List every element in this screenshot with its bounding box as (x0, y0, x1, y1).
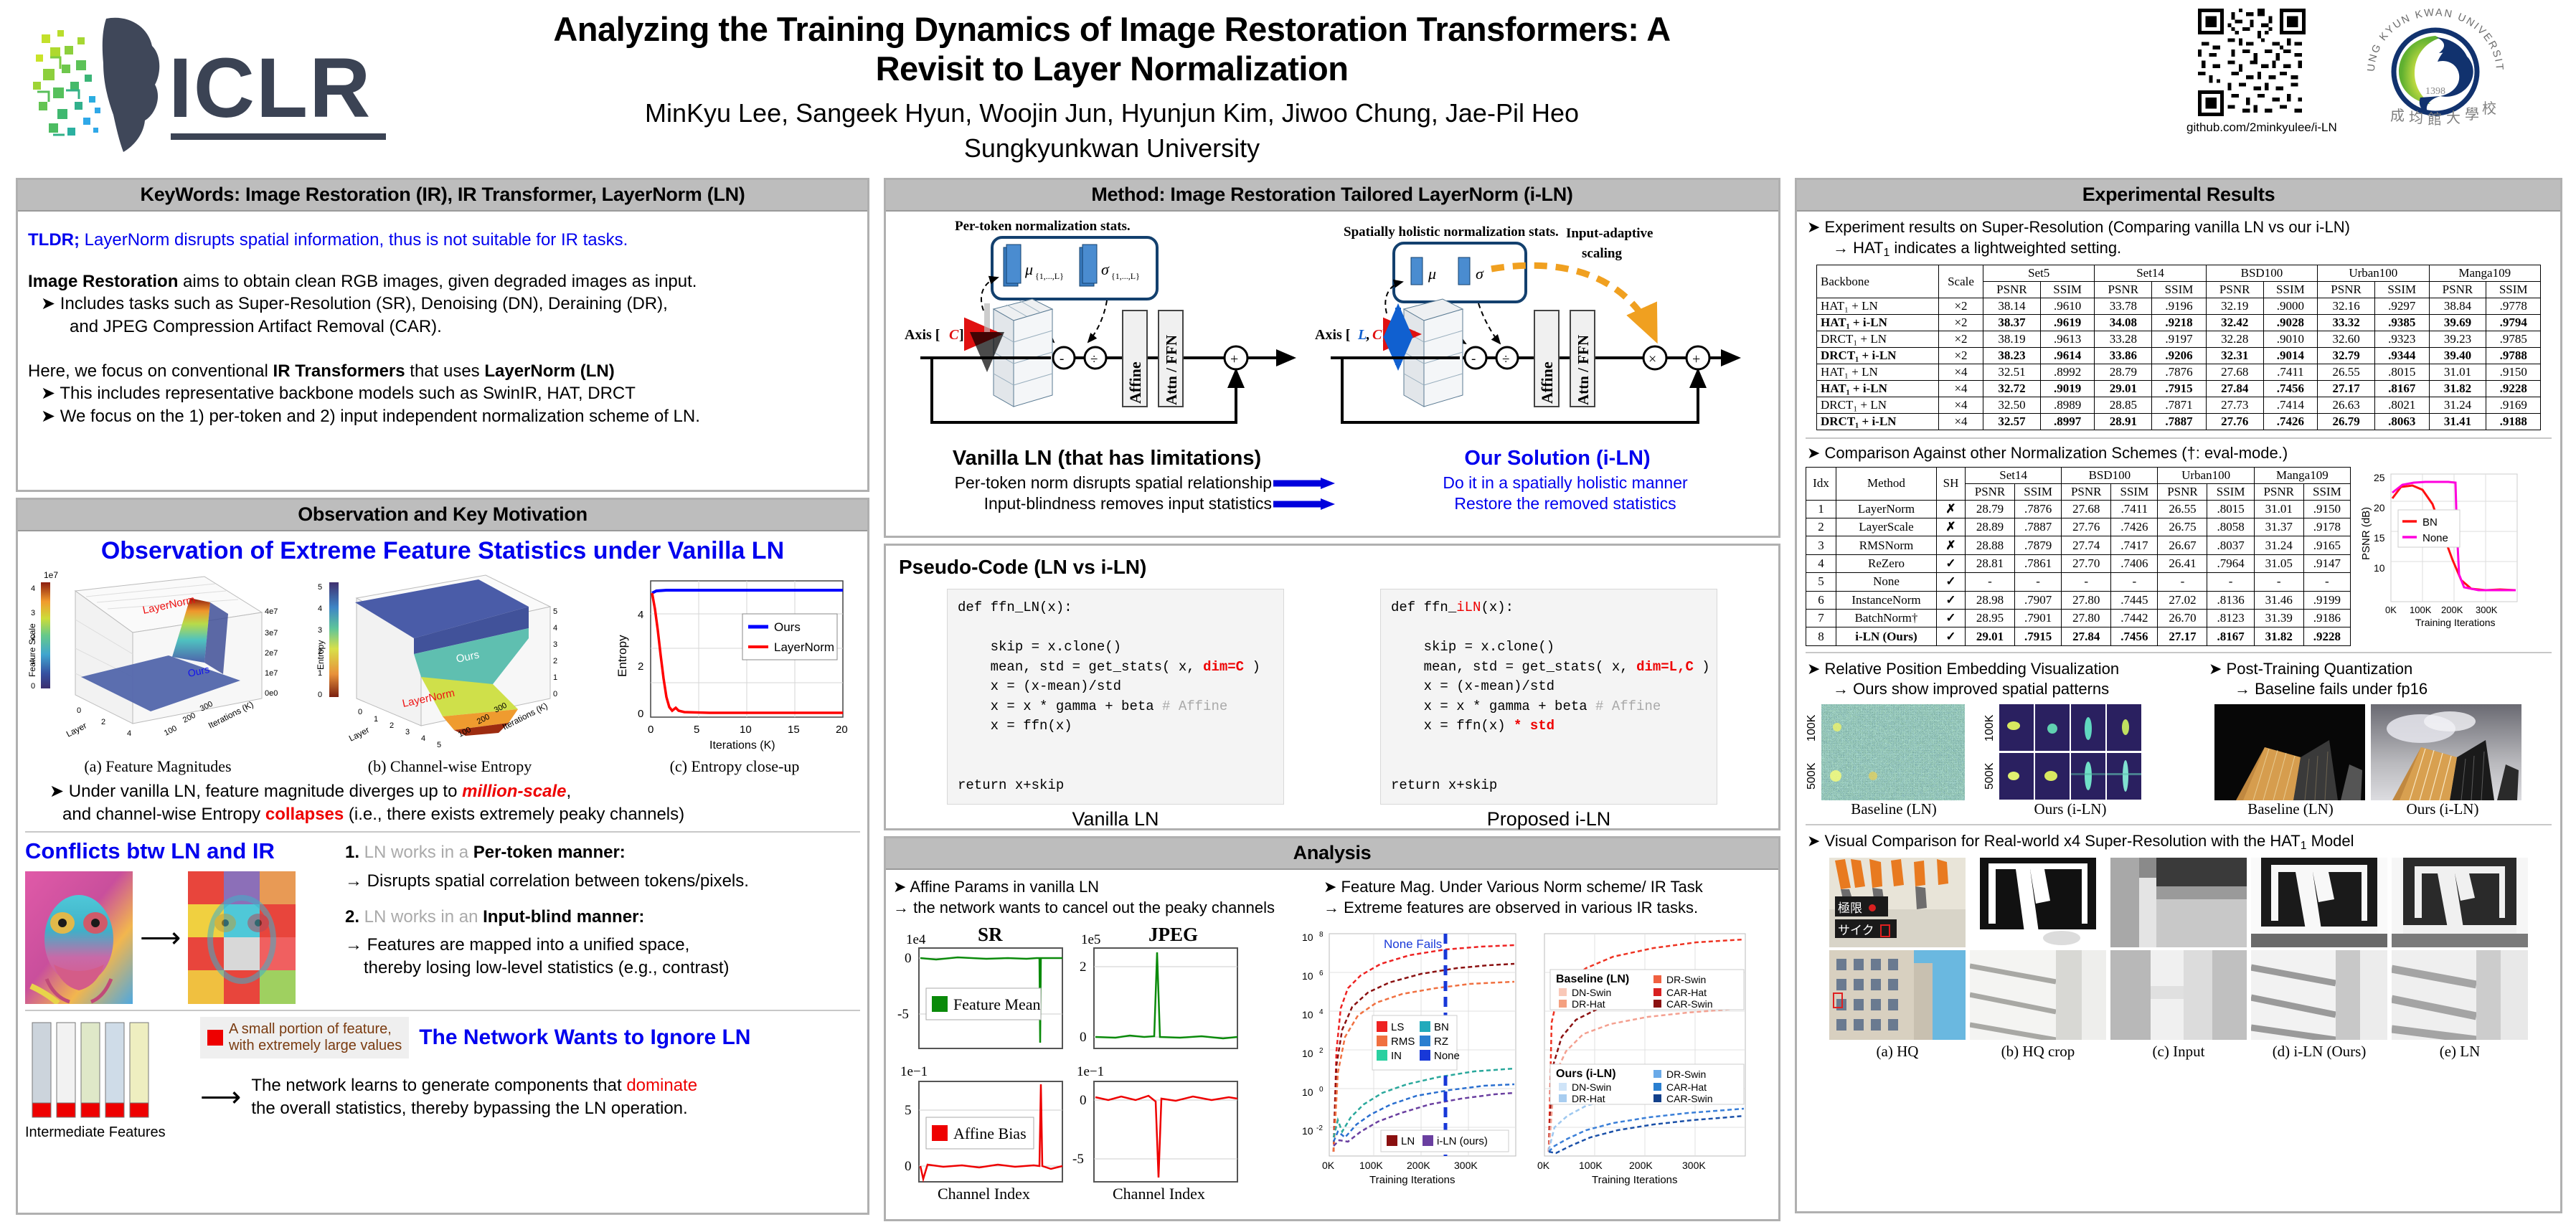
svg-text:σ: σ (1476, 265, 1484, 283)
svg-text:200K: 200K (1407, 1160, 1430, 1171)
svg-text:i-LN (ours): i-LN (ours) (1437, 1135, 1488, 1147)
table-row: HAT₁ + i-LN×432.72.901929.01.791527.84.7… (1817, 381, 2541, 397)
svg-text:-: - (1060, 351, 1064, 366)
middle-column: Method: Image Restoration Tailored Layer… (884, 178, 1780, 1227)
table-row: 5None✓-------- (1806, 573, 2351, 591)
th-scale: Scale (1939, 265, 1983, 298)
conflicts-section: Conflicts btw LN and IR (25, 838, 860, 1004)
svg-text:-5: -5 (897, 1007, 909, 1022)
method-header: Method: Image Restoration Tailored Layer… (886, 180, 1778, 212)
visual-b1-sub: 1 (2301, 840, 2307, 852)
rpe-ours-tiles (1999, 704, 2143, 800)
svg-text:RMS: RMS (1391, 1036, 1415, 1048)
figure-entropy-closeup: Ours LayerNorm 420 05 101520 Entropy Ite… (609, 569, 860, 776)
table-row: DRCT₁ + LN×432.50.898928.85.787127.73.74… (1817, 397, 2541, 414)
svg-text:DN-Swin: DN-Swin (1572, 1081, 1611, 1093)
conflict-2-num: 2. (345, 907, 359, 927)
svg-text:-2: -2 (1316, 1124, 1323, 1132)
legend-line2: with extremely large values (229, 1038, 402, 1054)
svg-text:÷: ÷ (1502, 352, 1509, 367)
svg-text:4: 4 (318, 605, 322, 613)
method-row2-right: Restore the removed statistics (1358, 494, 1773, 513)
svg-text:2: 2 (390, 721, 394, 730)
svg-text:,: , (1366, 327, 1369, 343)
ignore-ln-title: The Network Wants to Ignore LN (419, 1025, 750, 1050)
code-right-dim: dim=L,C (1636, 659, 1694, 675)
code-right-def-red: iLN (1456, 600, 1481, 615)
svg-text:0: 0 (905, 951, 912, 966)
th-psnr: PSNR (2429, 282, 2486, 298)
svg-text:RZ: RZ (1434, 1036, 1448, 1048)
intermediate-features-bars (25, 1017, 190, 1124)
xlabel-channel-index-1: Channel Index (938, 1185, 1030, 1202)
svg-text:{1,...,L}: {1,...,L} (1111, 271, 1140, 281)
svg-text:Feature Scale: Feature Scale (27, 623, 37, 677)
svg-text:4e7: 4e7 (265, 607, 278, 616)
note-line2-tail: (i.e., there exists extremely peaky chan… (344, 805, 684, 824)
analysis-right-b2: → Extreme features are observed in vario… (1324, 898, 1771, 919)
rpe-b2: → Ours show improved spatial patterns (1833, 679, 2207, 700)
th-ssim: SSIM (2263, 282, 2317, 298)
visual-col-hq: 極限サイク (1829, 858, 1966, 1061)
svg-text:學: 學 (2465, 106, 2479, 123)
svg-text:10: 10 (1302, 932, 1313, 943)
svg-text:CAR-Hat: CAR-Hat (1666, 987, 1707, 998)
svg-text:館: 館 (2428, 111, 2442, 128)
method-row2-arrow-icon (1272, 497, 1358, 511)
note-million-scale: million-scale (462, 782, 566, 801)
svg-text:5: 5 (318, 583, 322, 592)
svg-text:15: 15 (2374, 532, 2385, 544)
svg-text:20: 20 (836, 724, 848, 736)
xlabel-channel-index-2: Channel Index (1113, 1185, 1205, 1202)
svg-text:C: C (1372, 327, 1382, 343)
qr-code-icon[interactable] (2198, 9, 2306, 116)
table-row: DRCT₁ + i-LN×432.57.899728.91.788727.76.… (1817, 414, 2541, 430)
svg-text:0K: 0K (2385, 605, 2397, 615)
legend-swatch-red (207, 1030, 223, 1046)
visual-comparison-block: ➤ Visual Comparison for Real-world x4 Su… (1806, 831, 2552, 1061)
ignore-line1-pre: The network learns to generate component… (251, 1076, 626, 1095)
legend-group-ours: Ours (i-LN) (1556, 1068, 1616, 1080)
rpe-row-label-500k-2: 500K (1983, 754, 1996, 798)
observation-panel: Observation and Key Motivation Observati… (16, 498, 869, 1215)
visual-hq-manga: 極限サイク (1829, 858, 1966, 947)
university-logo: SUNG KYUN KWAN UNIVERSITY 1398 成均館 大學校 (2346, 6, 2525, 128)
method-caption-right: Our Solution (i-LN) (1342, 447, 1773, 470)
th-method: Method (1836, 467, 1937, 500)
svg-text:校: 校 (2482, 100, 2496, 117)
visual-hqcrop-building (1970, 950, 2106, 1040)
conflict-2-gray: LN works in an (359, 907, 483, 927)
tldr-text: LayerNorm disrupts spatial information, … (80, 230, 628, 250)
left-stats-label: Per-token normalization stats. (955, 219, 1131, 234)
poster-header: ICLR Analyzing the Training Dynamics of … (0, 0, 2576, 178)
svg-text:4: 4 (421, 734, 425, 743)
tldr-label: TLDR; (28, 230, 80, 250)
feature-magnitude-charts: 108 106 104 102 100 10-2 (1295, 922, 1768, 1202)
svg-text:LN: LN (1401, 1135, 1415, 1147)
svg-text:PSNR (dB): PSNR (dB) (2360, 507, 2372, 560)
svg-text:Affine: Affine (1538, 361, 1556, 404)
none-fails-annotation: None Fails (1384, 937, 1442, 951)
intermediate-features-label: Intermediate Features (25, 1124, 190, 1141)
th-ssim: SSIM (2152, 282, 2206, 298)
legend-line1: A small portion of feature, (229, 1021, 402, 1038)
svg-text:300K: 300K (1454, 1160, 1478, 1171)
code-i-ln: def ffn_iLN(x): skip = x.clone() mean, s… (1380, 589, 1717, 805)
rpe-caption-right: Ours (i-LN) (1982, 800, 2159, 818)
svg-text:3: 3 (31, 609, 35, 617)
chameleon-token-shuffled-image (188, 871, 296, 1004)
affiliation: Sungkyunkwan University (502, 133, 1722, 164)
svg-text:大: 大 (2446, 110, 2461, 126)
svg-text:μ: μ (1428, 265, 1436, 283)
code-right-def-b: (x): (1481, 600, 1514, 615)
results-table-norms: Idx Method SH Set14 BSD100 Urban100 Mang… (1806, 467, 2351, 646)
svg-text:Entropy: Entropy (615, 635, 629, 677)
results-panel: Experimental Results ➤ Experiment result… (1795, 178, 2562, 1213)
svg-text:CAR-Hat: CAR-Hat (1666, 1081, 1707, 1093)
visual-input-manga (2110, 858, 2247, 947)
th-ssim: SSIM (2375, 282, 2429, 298)
focus-mid: that uses (405, 361, 485, 381)
svg-text:CAR-Swin: CAR-Swin (1666, 998, 1713, 1010)
svg-text:0K: 0K (1322, 1160, 1335, 1171)
analysis-left-b2: → the network wants to cancel out the pe… (893, 898, 1324, 919)
method-panel: Method: Image Restoration Tailored Layer… (884, 178, 1780, 538)
code-left-dim: dim=C (1203, 659, 1244, 675)
svg-text:DR-Swin: DR-Swin (1666, 974, 1706, 985)
visual-col-hqcrop: (b) HQ crop (1970, 858, 2106, 1061)
analysis-left-b1: Affine Params in vanilla LN (910, 878, 1099, 896)
svg-text:200K: 200K (1629, 1160, 1653, 1171)
svg-text:]: ] (1382, 327, 1387, 343)
rpe-caption-left: Baseline (LN) (1806, 800, 1982, 818)
legend-bn: BN (2422, 516, 2438, 529)
svg-text:4: 4 (638, 609, 643, 621)
ptq-caption-right: Ours (i-LN) (2367, 800, 2519, 818)
ignore-arrow-icon: ⟶ (200, 1083, 241, 1112)
code-right-post-a: x = ffn(x) (1391, 718, 1514, 734)
table-row: 8i-LN (Ours)✓29.01.791527.84.745627.17.8… (1806, 627, 2351, 645)
svg-text:Layer: Layer (347, 725, 371, 744)
svg-text:10: 10 (1302, 1125, 1313, 1137)
note-line1-pre: Under vanilla LN, feature magnitude dive… (69, 782, 462, 801)
method-row1-arrow-icon (1272, 476, 1358, 491)
svg-text:Ours: Ours (774, 620, 801, 634)
results-b2-post: indicates a lightweighted setting. (1889, 239, 2121, 257)
visual-cap-a: (a) HQ (1829, 1043, 1966, 1061)
xlabel-training-iters-1: Training Iterations (1369, 1174, 1456, 1186)
svg-text:1398: 1398 (2425, 86, 2445, 97)
svg-text:1e4: 1e4 (906, 932, 926, 947)
th-psnr: PSNR (1983, 282, 2041, 298)
svg-text:2: 2 (553, 657, 557, 665)
svg-text:200K: 200K (2441, 605, 2463, 615)
svg-text:100: 100 (163, 724, 179, 738)
th-set14: Set14 (2095, 265, 2206, 282)
note-line2-pre: and channel-wise Entropy (62, 805, 265, 824)
th-ssim: SSIM (2486, 282, 2541, 298)
svg-text:1e7: 1e7 (265, 669, 278, 678)
conflicts-title: Conflicts btw LN and IR (25, 838, 334, 864)
code-left-post: x = ffn(x) return x+skip (958, 718, 1072, 793)
table-row: 1LayerNorm✗28.79.787627.68.741126.55.801… (1806, 500, 2351, 518)
visual-col-input: (c) Input (2110, 858, 2247, 1061)
svg-text:Layer: Layer (65, 721, 88, 739)
svg-text:2e7: 2e7 (265, 649, 278, 658)
svg-text:0: 0 (1080, 1093, 1087, 1108)
note-collapses: collapses (265, 805, 344, 824)
svg-text:BN: BN (1434, 1021, 1449, 1033)
iclr-underline (171, 133, 386, 140)
pseudocode-right-block: def ffn_iLN(x): skip = x.clone() mean, s… (1380, 589, 1717, 830)
conflict-1-bold: Per-token manner: (473, 843, 626, 862)
rpe-block: ➤ Relative Position Embedding Visualizat… (1806, 659, 2207, 818)
svg-text:-5: -5 (1072, 1152, 1084, 1167)
conflict-1-num: 1. (345, 843, 359, 862)
visual-iln-building (2251, 950, 2387, 1040)
svg-text:Iterations (K): Iterations (K) (709, 739, 775, 752)
svg-text:5: 5 (694, 724, 699, 736)
results-table-sr: Backbone Scale Set5 Set14 BSD100 Urban10… (1816, 265, 2541, 430)
svg-text:Training Iterations: Training Iterations (2415, 617, 2496, 628)
svg-text:成: 成 (2390, 108, 2405, 124)
code-caption-left: Vanilla LN (947, 808, 1284, 830)
svg-text:0: 0 (358, 708, 362, 716)
svg-text:10: 10 (2374, 562, 2385, 574)
observation-header: Observation and Key Motivation (18, 500, 867, 531)
svg-text:3: 3 (318, 626, 322, 635)
layernorm-label: LayerNorm (LN) (484, 361, 614, 381)
ptq-baseline-image (2214, 704, 2365, 800)
conflict-2-arrow2: thereby losing low-level statistics (e.g… (364, 957, 860, 980)
table-row: 3RMSNorm✗28.88.787927.74.741726.67.80373… (1806, 536, 2351, 554)
results-header: Experimental Results (1797, 180, 2560, 212)
svg-text:JPEG: JPEG (1148, 924, 1198, 945)
visual-b1-post: Model (2307, 832, 2354, 850)
svg-text:300K: 300K (2476, 605, 2498, 615)
tasks-line2: and JPEG Compression Artifact Removal (C… (70, 317, 442, 336)
analysis-panel: Analysis ➤ Affine Params in vanilla LN →… (884, 836, 1780, 1221)
visual-cap-c: (c) Input (2110, 1043, 2247, 1061)
conflict-2-arrow: → Features are mapped into a unified spa… (345, 934, 860, 957)
th-psnr: PSNR (2318, 282, 2375, 298)
tasks-line1: Includes tasks such as Super-Resolution … (60, 294, 668, 313)
svg-text:5: 5 (437, 741, 441, 749)
svg-text:C: C (949, 327, 959, 343)
svg-text:0: 0 (318, 691, 322, 699)
figure-channel-entropy: 543 210 Entropy (313, 569, 586, 776)
svg-text:IN: IN (1391, 1050, 1402, 1062)
visual-col-ln: (e) LN (2392, 858, 2528, 1061)
svg-text:4: 4 (127, 729, 131, 738)
svg-text:DR-Hat: DR-Hat (1572, 1093, 1605, 1104)
svg-text:2: 2 (101, 718, 105, 726)
xlabel-training-iters-2: Training Iterations (1592, 1174, 1678, 1186)
qr-link-text[interactable]: github.com/2minkyulee/i-LN (2186, 120, 2311, 135)
figure-caption-b: (b) Channel-wise Entropy (313, 757, 586, 776)
svg-text:÷: ÷ (1090, 352, 1098, 367)
method-diagram: Per-token normalization stats. μ {1,...,… (892, 216, 1773, 445)
affine-param-charts: 1e4 SR 0 -5 Feature Mean 1e5 JPEG (893, 922, 1295, 1202)
svg-text:SR: SR (978, 924, 1003, 945)
visual-cap-b: (b) HQ crop (1970, 1043, 2106, 1061)
analysis-header: Analysis (886, 838, 1778, 870)
svg-text:0: 0 (553, 690, 557, 698)
code-right-def-a: def ffn_ (1391, 600, 1456, 615)
svg-text:100K: 100K (1579, 1160, 1603, 1171)
visual-input-building (2110, 950, 2247, 1040)
svg-text:Axis [: Axis [ (905, 327, 940, 343)
observation-title: Observation of Extreme Feature Statistic… (25, 537, 860, 565)
table-row: DRCT₁ + LN×238.19.961333.28.919732.28.90… (1817, 331, 2541, 348)
keywords-panel: KeyWords: Image Restoration (IR), IR Tra… (16, 178, 869, 492)
th-sh: SH (1937, 467, 1966, 500)
ptq-ours-image (2371, 704, 2521, 800)
svg-text:極限: 極限 (1838, 901, 1862, 915)
pseudocode-panel: Pseudo-Code (LN vs i-LN) def ffn_LN(x): … (884, 544, 1780, 830)
svg-text:15: 15 (788, 724, 800, 736)
svg-text:サイク: サイク (1838, 924, 1874, 937)
svg-text:+: + (1692, 351, 1700, 367)
svg-text:1e5: 1e5 (1081, 932, 1100, 947)
th-set5: Set5 (1983, 265, 2095, 282)
rpe-baseline-tiles (1821, 704, 1965, 800)
focus-pre: Here, we focus on conventional (28, 361, 273, 381)
image-restoration-desc: aims to obtain clean RGB images, given d… (178, 272, 697, 291)
svg-text:8: 8 (1319, 931, 1324, 939)
svg-text:6: 6 (1319, 970, 1324, 977)
left-column: KeyWords: Image Restoration (IR), IR Tra… (16, 178, 869, 1221)
svg-text:0: 0 (905, 1159, 912, 1174)
svg-text:×: × (1648, 351, 1656, 367)
legend-group-baseline: Baseline (LN) (1556, 973, 1629, 985)
results-b3: Comparison Against other Normalization S… (1825, 444, 2288, 462)
method-row1-left: Per-token norm disrupts spatial relation… (892, 473, 1272, 493)
th-manga109-2: Manga109 (2254, 467, 2350, 483)
rpe-row-label-100k-2: 100K (1983, 706, 1996, 750)
svg-text:LS: LS (1391, 1021, 1404, 1033)
right-column: Experimental Results ➤ Experiment result… (1795, 178, 2562, 1219)
svg-text:4: 4 (31, 584, 35, 593)
th-urban100: Urban100 (2318, 265, 2429, 282)
feature-magnitudes-surface: 1e7 (25, 569, 291, 756)
visual-hqcrop-manga (1970, 858, 2106, 947)
table-row: 4ReZero✓28.81.786127.70.740626.41.796431… (1806, 554, 2351, 572)
svg-text:1e−1: 1e−1 (1077, 1064, 1104, 1079)
svg-text:10: 10 (1302, 1009, 1313, 1020)
iclr-wordmark: ICLR (169, 39, 372, 137)
table-row: HAT₁ + LN×432.51.899228.79.787627.68.741… (1817, 364, 2541, 381)
skku-logo-icon: SUNG KYUN KWAN UNIVERSITY 1398 成均館 大學校 (2346, 6, 2525, 128)
svg-text:3: 3 (553, 640, 557, 649)
svg-text:10: 10 (740, 724, 752, 736)
svg-text:Axis [: Axis [ (1315, 327, 1350, 343)
backbones-line: This includes representative backbone mo… (60, 384, 636, 403)
visual-ln-manga (2392, 858, 2528, 947)
conflict-1-arrow: → Disrupts spatial correlation between t… (345, 870, 860, 893)
svg-text:0K: 0K (1537, 1160, 1550, 1171)
svg-text:DR-Hat: DR-Hat (1572, 998, 1605, 1010)
svg-text:0: 0 (31, 682, 35, 691)
qr-block[interactable]: github.com/2minkyulee/i-LN (2192, 9, 2311, 135)
svg-text:0: 0 (638, 708, 643, 720)
conflict-1-gray: LN works in a (359, 843, 473, 862)
code-right-std: * std (1514, 718, 1554, 734)
legend-affine-bias-sr: Affine Bias (953, 1124, 1027, 1142)
title-block: Analyzing the Training Dynamics of Image… (502, 10, 1722, 164)
svg-text:+: + (1230, 351, 1238, 367)
th-bsd100: BSD100 (2206, 265, 2317, 282)
svg-text:均: 均 (2409, 110, 2423, 126)
th-set14-2: Set14 (1966, 467, 2062, 483)
code-right-post-b: return x+skip (1391, 777, 1497, 793)
ptq-b1: Post-Training Quantization (2227, 660, 2413, 678)
method-caption-left: Vanilla LN (that has limitations) (892, 447, 1322, 470)
scheme-line: We focus on the 1) per-token and 2) inpu… (60, 407, 700, 426)
svg-text:μ: μ (1024, 260, 1033, 278)
svg-text:1: 1 (374, 715, 378, 724)
analysis-right-b1: Feature Mag. Under Various Norm scheme/ … (1341, 878, 1703, 896)
th-urban100-2: Urban100 (2158, 467, 2254, 483)
svg-text:0: 0 (1080, 1030, 1087, 1045)
transform-arrow-icon: ⟶ (140, 924, 181, 952)
svg-text:1: 1 (553, 673, 557, 682)
results-b2-sub: 1 (1883, 247, 1889, 259)
svg-text:Attn / FFN: Attn / FFN (1575, 335, 1592, 405)
conflict-2-bold: Input-blind manner: (483, 907, 644, 927)
svg-text:10: 10 (1302, 970, 1313, 982)
svg-text:LayerNorm: LayerNorm (774, 640, 834, 654)
th-ssim: SSIM (2040, 282, 2094, 298)
visual-ln-building (2392, 950, 2528, 1040)
svg-text:5: 5 (553, 607, 557, 616)
pseudocode-title: Pseudo-Code (LN vs i-LN) (899, 556, 1765, 579)
code-right-mid-a: skip = x.clone() mean, std = get_stats( … (1391, 639, 1636, 675)
psnr-training-chart: BN None 2520 1510 PSNR (dB) 0K100K 200K3… (2356, 467, 2529, 646)
method-row1-right: Do it in a spatially holistic manner (1358, 473, 1773, 493)
svg-text:3: 3 (405, 728, 410, 736)
svg-text:0: 0 (77, 706, 81, 715)
figure-caption-a: (a) Feature Magnitudes (25, 757, 291, 776)
svg-text:25: 25 (2374, 472, 2385, 483)
svg-text:2: 2 (1319, 1047, 1324, 1055)
table-row: 7BatchNorm†✓28.95.790127.80.744226.70.81… (1806, 609, 2351, 627)
table-row: DRCT₁ + i-LN×238.23.961433.86.920632.31.… (1817, 348, 2541, 364)
visual-cap-e: (e) LN (2392, 1043, 2528, 1061)
svg-text:2: 2 (638, 660, 643, 673)
table-row: 2LayerScale✗28.89.788727.76.742626.75.80… (1806, 518, 2351, 536)
svg-text:3e7: 3e7 (265, 629, 278, 638)
page-title: Analyzing the Training Dynamics of Image… (502, 10, 1722, 88)
code-caption-right: Proposed i-LN (1380, 808, 1717, 830)
legend-none: None (2422, 532, 2448, 544)
rpe-row-label-500k: 500K (1806, 754, 1818, 798)
svg-text:Input-adaptive: Input-adaptive (1566, 226, 1653, 241)
svg-text:scaling: scaling (1582, 246, 1622, 261)
visual-b1-pre: Visual Comparison for Real-world x4 Supe… (1825, 832, 2301, 850)
th-psnr: PSNR (2206, 282, 2263, 298)
svg-text:2: 2 (1080, 960, 1087, 975)
ptq-block: ➤ Post-Training Quantization → Baseline … (2214, 659, 2552, 818)
keywords-header: KeyWords: Image Restoration (IR), IR Tra… (18, 180, 867, 212)
authors: MinKyu Lee, Sangeek Hyun, Woojin Jun, Hy… (502, 97, 1722, 131)
svg-text:4: 4 (1319, 1008, 1324, 1016)
th-psnr: PSNR (2095, 282, 2152, 298)
svg-text:1e7: 1e7 (44, 570, 58, 580)
